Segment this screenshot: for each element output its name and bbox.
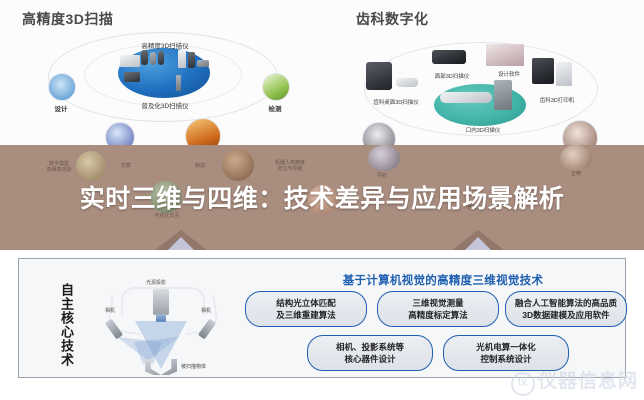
pill-structured-light-algorithm[interactable]: 结构光立体匹配及三维重建算法	[245, 291, 367, 327]
scanner-device-b	[141, 50, 148, 65]
watermark-badge: 仪	[511, 372, 535, 396]
scanner-device-d	[158, 51, 164, 65]
scanner-device-c	[150, 52, 156, 65]
dental-handpiece	[396, 78, 418, 87]
band-label-orthodontics: 正畸	[546, 171, 606, 177]
band-node-orthodontics	[560, 145, 592, 171]
label-projector: 光源投影	[146, 279, 166, 286]
dental-3d-printer	[532, 58, 554, 84]
band-label-navigation: 导航	[352, 173, 412, 179]
dental-desktop-scanner	[366, 62, 392, 90]
structured-light-figure: 光源投影 相机 相机 被扫描物体	[91, 271, 231, 377]
intraoral-scanner-blob	[434, 84, 526, 126]
label-scanned-object: 被扫描物体	[181, 363, 206, 370]
arrow-up-left	[155, 230, 207, 250]
scanner-device-e	[178, 50, 186, 68]
scanner-device-h	[176, 75, 181, 91]
intraoral-wand	[440, 92, 492, 103]
band-label-simulation: 仿真	[108, 163, 144, 169]
label-camera-left: 相机	[105, 307, 115, 314]
node-design-icon	[48, 73, 76, 101]
pill-core-component-design[interactable]: 相机、投影系统等核心器件设计	[307, 335, 433, 371]
label-dental-3d-printer: 齿科3D打印机	[526, 96, 588, 104]
band-node-manufacture	[222, 149, 254, 181]
panel-dental-digitalization: 齿科数字化 齿科桌面3D扫描仪 面部3D扫描仪 设计软件 齿科3D打印机 口内3…	[322, 0, 644, 160]
watermark-text: 仪器信息网	[538, 371, 638, 392]
band-node-navigation	[368, 145, 400, 171]
dental-3d-printer-body	[556, 62, 572, 86]
band-label-manufacture: 制造	[182, 163, 218, 169]
bottom-diagram-area: 自主核心技术 光源投影 相机 相机	[0, 250, 644, 400]
arrow-up-right	[452, 230, 504, 250]
band-label-robot: 机器人高精度定位与导航	[252, 160, 328, 173]
band-label-digital-model: 数字模型高保真渲染	[24, 161, 94, 174]
panel-high-precision-3d-scan: 高精度3D扫描 高精度3D扫描仪 普及化3D扫描仪 设计 检测	[0, 0, 322, 160]
label-intraoral-scanner: 口内3D扫描仪	[448, 126, 518, 134]
vertical-title-core-technology: 自主核心技术	[53, 283, 73, 367]
label-high-precision-scanner: 高精度3D扫描仪	[125, 40, 205, 50]
left-panel-title: 高精度3D扫描	[22, 9, 113, 29]
screenshot-root: 高精度3D扫描 高精度3D扫描仪 普及化3D扫描仪 设计 检测	[0, 0, 644, 400]
face-scanner-device	[432, 50, 466, 64]
scanner-device-f	[188, 52, 195, 68]
scanner-device-g	[197, 60, 209, 67]
scanner-device-a	[120, 55, 140, 67]
pill-ai-modeling-software[interactable]: 融合人工智能算法的高品质3D数据建模及应用软件	[505, 291, 627, 327]
right-panel-title: 齿科数字化	[356, 9, 429, 29]
intraoral-cart	[494, 80, 512, 110]
scanner-device-i	[124, 72, 140, 82]
bottom-heading: 基于计算机视觉的高精度三维视觉技术	[247, 272, 639, 288]
core-technology-card: 自主核心技术 光源投影 相机 相机	[18, 258, 626, 378]
label-camera-right: 相机	[201, 307, 211, 314]
watermark: 仪仪器信息网	[511, 366, 638, 396]
label-design-software: 设计软件	[488, 70, 530, 78]
label-dental-desktop-scanner: 齿科桌面3D扫描仪	[358, 98, 434, 106]
page-title: 实时三维与四维：技术差异与应用场景解析	[0, 184, 644, 215]
design-software-screen	[486, 44, 524, 66]
pill-3d-measurement-calibration[interactable]: 三维视觉测量高精度标定算法	[377, 291, 499, 327]
projector-body	[153, 289, 169, 315]
label-face-scanner: 面部3D扫描仪	[426, 72, 478, 80]
top-image-area: 高精度3D扫描 高精度3D扫描仪 普及化3D扫描仪 设计 检测	[0, 0, 644, 160]
